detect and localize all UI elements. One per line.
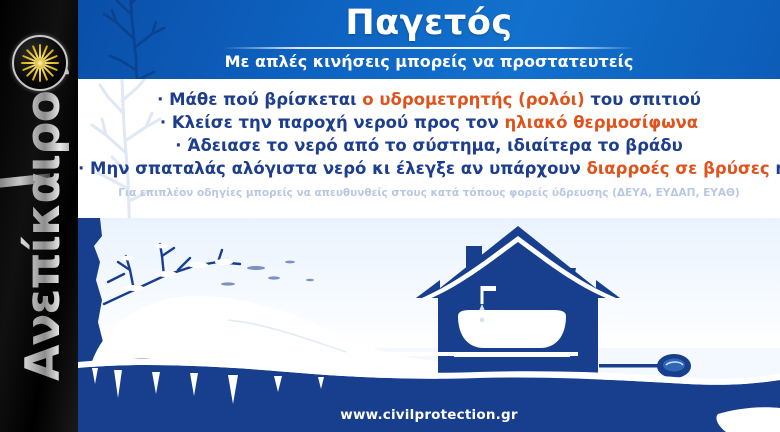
brand-rail: Ανεπίκαιρος	[0, 0, 78, 432]
sun-core	[35, 58, 45, 68]
bullet-text-pre-4: Μην σπαταλάς αλόγιστα νερό κι έλεγξε αν …	[84, 159, 586, 178]
bullet-text-post-4: ή καζανάκια	[770, 159, 780, 178]
title-divider	[223, 47, 635, 49]
bullet-text-pre-1: Μάθε πού βρίσκεται	[163, 90, 362, 109]
poster-header: Παγετός Με απλές κινήσεις μπορείς να προ…	[78, 0, 780, 79]
website-url: www.civilprotection.gr	[78, 407, 780, 423]
advice-bullet-3: · Άδειασε το νερό από το σύστημα, ιδιαίτ…	[78, 134, 780, 157]
poster-root: Ανεπίκαιρος Παγετός Με απλές	[0, 0, 780, 432]
bullet-text-pre-3: Άδειασε το νερό από το σύστημα, ιδιαίτερ…	[182, 136, 683, 155]
page-title: Παγετός	[78, 3, 780, 43]
advice-panel: · Μάθε πού βρίσκεται ο υδρομετρητής (ρολ…	[78, 79, 780, 218]
tree-snow-caps	[122, 244, 233, 291]
bullet-text-post-1: του σπιτιού	[585, 90, 701, 109]
vergina-sun-logo	[12, 35, 68, 91]
winter-scene-svg	[78, 218, 780, 432]
frozen-house-silhouette	[416, 226, 620, 390]
advice-bullet-2: · Κλείσε την παροχή νερού προς τον ηλιακ…	[78, 111, 780, 134]
bullet-highlight-4: διαρροές σε βρύσες	[587, 159, 770, 178]
illustration-scene: ΠΟΛΙΤΙΚΗ ΠΡΟΣΤΑΣΙΑ ΕΛΛΑΔΑ www.civilprote…	[78, 218, 780, 432]
advice-bullet-1: · Μάθε πού βρίσκεται ο υδρομετρητής (ρολ…	[78, 88, 780, 111]
advice-footnote: Για επιπλέον οδηγίες μπορείς να απευθυνθ…	[78, 187, 780, 199]
advice-bullet-list: · Μάθε πού βρίσκεται ο υδρομετρητής (ρολ…	[78, 79, 780, 180]
poster-board: Παγετός Με απλές κινήσεις μπορείς να προ…	[78, 0, 780, 432]
bullet-highlight-1: ο υδρομετρητής (ρολόι)	[362, 90, 584, 109]
page-subtitle: Με απλές κινήσεις μπορείς να προστατευτε…	[78, 52, 780, 71]
dripping-faucet-icon	[480, 318, 484, 322]
advice-bullet-4: · Μην σπαταλάς αλόγιστα νερό κι έλεγξε α…	[78, 157, 780, 180]
bullet-highlight-2: ηλιακό θερμοσίφωνα	[504, 113, 698, 132]
bullet-text-pre-2: Κλείσε την παροχή νερού προς τον	[166, 113, 504, 132]
